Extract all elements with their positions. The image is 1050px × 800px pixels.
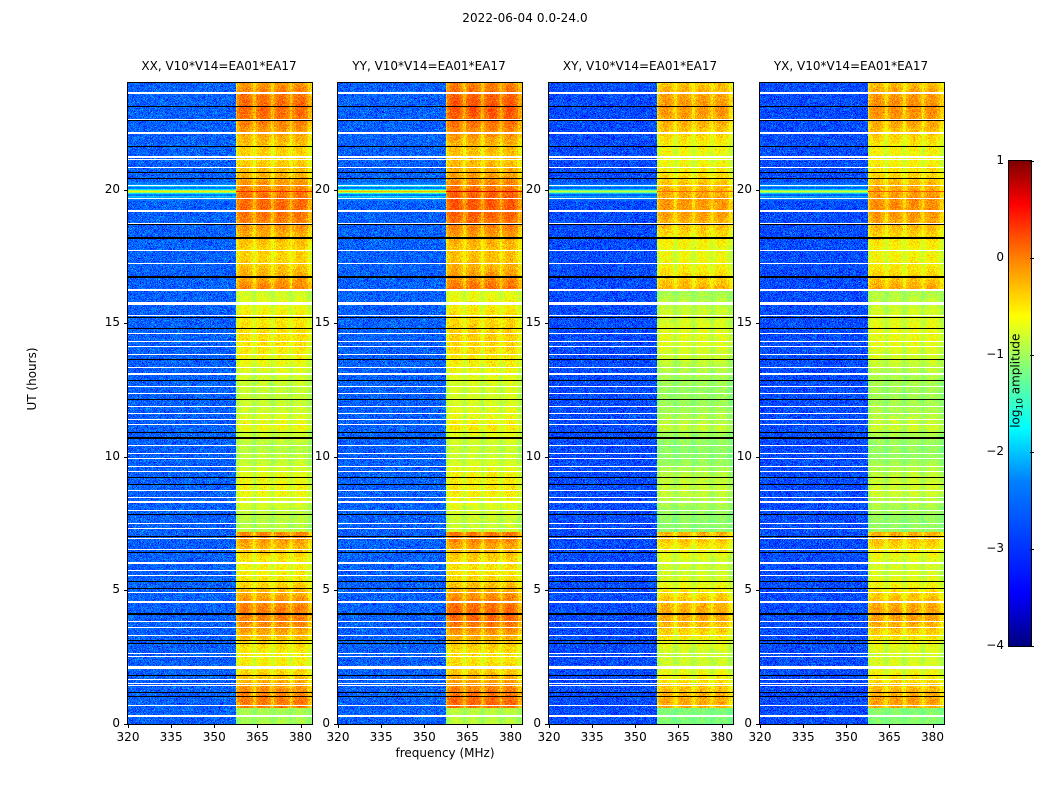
y-tick-mark (756, 190, 760, 191)
colorbar-tick-mark (1030, 549, 1034, 550)
spectrogram-image-yy (338, 83, 522, 724)
colorbar-tick-label: −3 (974, 541, 1004, 555)
colorbar-tick-label: 0 (974, 250, 1004, 264)
figure-canvas: 2022-06-04 0.0-24.0 XX, V10*V14=EA01*EA1… (0, 0, 1050, 800)
y-tick-label: 0 (718, 716, 752, 730)
y-tick-mark (334, 724, 338, 725)
y-tick-label: 10 (86, 449, 120, 463)
x-tick-mark (171, 724, 172, 728)
colorbar-tick-mark (1030, 646, 1034, 647)
colorbar-label: log10 amplitude (1008, 301, 1025, 461)
x-tick-label: 380 (491, 730, 531, 744)
y-tick-mark (756, 457, 760, 458)
y-tick-label: 15 (507, 315, 541, 329)
x-tick-label: 335 (361, 730, 401, 744)
spectrogram-image-yx (760, 83, 944, 724)
y-tick-label: 10 (296, 449, 330, 463)
y-tick-label: 0 (507, 716, 541, 730)
y-tick-mark (545, 190, 549, 191)
y-tick-label: 5 (296, 582, 330, 596)
x-tick-mark (467, 724, 468, 728)
x-tick-label: 350 (194, 730, 234, 744)
y-tick-mark (334, 323, 338, 324)
y-tick-label: 0 (296, 716, 330, 730)
colorbar-tick-mark (1030, 452, 1034, 453)
y-tick-label: 20 (86, 182, 120, 196)
x-tick-mark (678, 724, 679, 728)
x-tick-label: 335 (572, 730, 612, 744)
y-tick-label: 5 (507, 582, 541, 596)
y-tick-mark (334, 590, 338, 591)
spectrum-panel-yy[interactable] (337, 82, 523, 725)
y-tick-label: 5 (86, 582, 120, 596)
y-tick-label: 10 (718, 449, 752, 463)
x-tick-label: 335 (783, 730, 823, 744)
y-tick-label: 15 (296, 315, 330, 329)
colorbar-tick-label: −1 (974, 347, 1004, 361)
y-axis-label: UT (hours) (25, 319, 39, 439)
x-tick-mark (338, 724, 339, 728)
y-tick-mark (334, 457, 338, 458)
y-tick-label: 5 (718, 582, 752, 596)
x-tick-mark (592, 724, 593, 728)
colorbar-tick-label: 1 (974, 153, 1004, 167)
y-tick-label: 0 (86, 716, 120, 730)
y-tick-mark (545, 724, 549, 725)
y-tick-label: 10 (507, 449, 541, 463)
y-tick-mark (756, 590, 760, 591)
x-tick-mark (635, 724, 636, 728)
x-tick-mark (889, 724, 890, 728)
x-tick-mark (549, 724, 550, 728)
x-tick-label: 380 (913, 730, 953, 744)
y-tick-mark (756, 323, 760, 324)
colorbar-tick-label: −4 (974, 638, 1004, 652)
x-tick-mark (933, 724, 934, 728)
y-tick-mark (756, 724, 760, 725)
x-tick-label: 365 (658, 730, 698, 744)
y-tick-label: 15 (718, 315, 752, 329)
x-axis-label: frequency (MHz) (0, 746, 890, 760)
spectrogram-image-xx (128, 83, 312, 724)
x-tick-label: 380 (702, 730, 742, 744)
x-tick-label: 380 (281, 730, 321, 744)
x-tick-mark (214, 724, 215, 728)
colorbar-tick-mark (1030, 258, 1034, 259)
x-tick-label: 365 (869, 730, 909, 744)
y-tick-label: 20 (718, 182, 752, 196)
y-tick-mark (124, 590, 128, 591)
y-tick-mark (545, 457, 549, 458)
y-tick-label: 20 (296, 182, 330, 196)
y-tick-label: 15 (86, 315, 120, 329)
x-tick-label: 365 (447, 730, 487, 744)
x-tick-label: 320 (740, 730, 780, 744)
panel-title-yx: YX, V10*V14=EA01*EA17 (721, 59, 981, 73)
y-tick-mark (124, 190, 128, 191)
x-tick-mark (257, 724, 258, 728)
x-tick-mark (760, 724, 761, 728)
x-tick-label: 350 (404, 730, 444, 744)
x-tick-label: 335 (151, 730, 191, 744)
x-tick-mark (803, 724, 804, 728)
spectrum-panel-xy[interactable] (548, 82, 734, 725)
y-tick-mark (124, 724, 128, 725)
y-tick-mark (124, 457, 128, 458)
y-tick-mark (124, 323, 128, 324)
x-tick-label: 350 (826, 730, 866, 744)
spectrogram-image-xy (549, 83, 733, 724)
x-tick-mark (381, 724, 382, 728)
figure-suptitle: 2022-06-04 0.0-24.0 (0, 11, 1050, 25)
spectrum-panel-xx[interactable] (127, 82, 313, 725)
x-tick-label: 350 (615, 730, 655, 744)
x-tick-label: 320 (318, 730, 358, 744)
spectrum-panel-yx[interactable] (759, 82, 945, 725)
x-tick-label: 320 (108, 730, 148, 744)
colorbar-tick-label: −2 (974, 444, 1004, 458)
x-tick-label: 320 (529, 730, 569, 744)
y-tick-mark (334, 190, 338, 191)
y-tick-label: 20 (507, 182, 541, 196)
x-tick-label: 365 (237, 730, 277, 744)
y-tick-mark (545, 590, 549, 591)
x-tick-mark (424, 724, 425, 728)
colorbar-tick-mark (1030, 355, 1034, 356)
x-tick-mark (128, 724, 129, 728)
colorbar-tick-mark (1030, 161, 1034, 162)
y-tick-mark (545, 323, 549, 324)
x-tick-mark (846, 724, 847, 728)
